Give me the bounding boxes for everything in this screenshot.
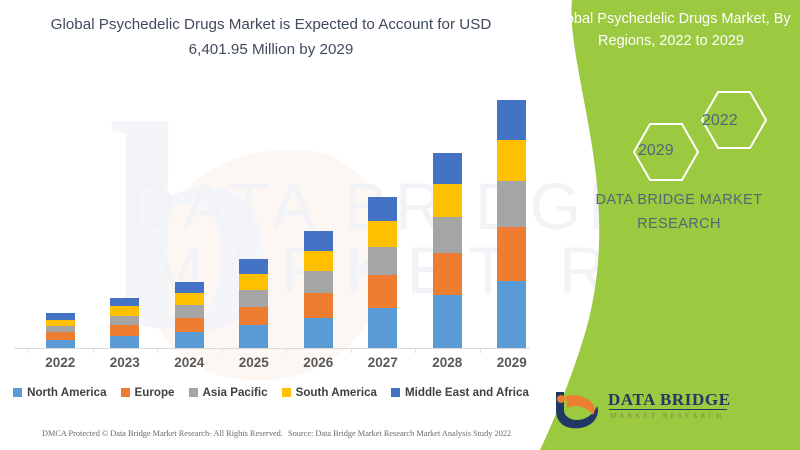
legend-label: South America [296,386,377,399]
axis-tick [415,348,416,353]
bar-segment-north-america [433,295,462,348]
bar-segment-middle-east-and-africa [433,153,462,184]
bar-segment-asia-pacific [239,290,268,307]
hexagon-badges: 2022 2029 [610,86,800,196]
bar-2025 [239,259,268,348]
bar-2027 [368,197,397,348]
footer-source: Source: Data Bridge Market Research Mark… [288,429,511,438]
green-side-panel: Global Psychedelic Drugs Market, By Regi… [528,0,800,450]
x-axis-line [14,348,530,349]
x-axis-label-2025: 2025 [224,355,284,370]
legend-label: Asia Pacific [203,386,268,399]
bar-segment-asia-pacific [497,181,526,226]
logo-tagline: MARKET RESEARCH [610,412,724,420]
bar-segment-europe [175,318,204,332]
infographic-page: b DATA BRIDGE MARKET RESEARCH Global Psy… [0,0,800,450]
bar-2028 [433,153,462,348]
axis-tick [351,348,352,353]
bar-segment-europe [433,253,462,295]
brand-logo: DATA BRIDGE MARKET RESEARCH [550,388,750,438]
bar-segment-europe [368,275,397,307]
bar-segment-north-america [46,340,75,348]
axis-tick [93,348,94,353]
legend-item-asia-pacific[interactable]: Asia Pacific [189,386,268,399]
bar-segment-asia-pacific [304,271,333,293]
bar-2029 [497,100,526,348]
page-title: Global Psychedelic Drugs Market is Expec… [36,12,506,62]
bar-segment-north-america [110,336,139,348]
bar-2026 [304,231,333,348]
chart-legend: North AmericaEuropeAsia PacificSouth Ame… [12,381,530,403]
bar-segment-asia-pacific [368,247,397,275]
bar-segment-europe [239,307,268,326]
axis-tick [480,348,481,353]
legend-label: Middle East and Africa [405,386,529,399]
x-axis-label-2022: 2022 [30,355,90,370]
x-axis-label-2026: 2026 [288,355,348,370]
bar-segment-europe [110,325,139,336]
axis-tick [222,348,223,353]
footer-copyright: DMCA Protected © Data Bridge Market Rese… [42,429,283,438]
bar-segment-middle-east-and-africa [239,259,268,274]
bar-segment-asia-pacific [110,316,139,326]
bar-segment-south-america [239,274,268,290]
bar-segment-north-america [368,308,397,348]
bar-segment-europe [46,332,75,339]
axis-tick [286,348,287,353]
hexagon-2022-label: 2022 [702,112,738,130]
bar-segment-south-america [110,306,139,315]
bar-segment-south-america [433,184,462,217]
bar-segment-middle-east-and-africa [175,282,204,293]
bar-2024 [175,282,204,348]
legend-item-middle-east-and-africa[interactable]: Middle East and Africa [391,386,529,399]
legend-swatch-icon [189,388,198,397]
bar-segment-south-america [175,293,204,305]
x-axis-label-2027: 2027 [353,355,413,370]
hexagon-2029-label: 2029 [638,142,674,160]
bar-segment-middle-east-and-africa [304,231,333,250]
bar-segment-north-america [239,325,268,348]
logo-divider [609,409,727,410]
bar-segment-middle-east-and-africa [110,298,139,306]
panel-brand-name: DATA BRIDGE MARKET RESEARCH [564,188,794,236]
x-axis-label-2028: 2028 [417,355,477,370]
bar-2023 [110,298,139,348]
bar-segment-asia-pacific [433,217,462,253]
panel-title: Global Psychedelic Drugs Market, By Regi… [546,8,796,52]
legend-label: North America [27,386,106,399]
legend-swatch-icon [13,388,22,397]
legend-item-north-america[interactable]: North America [13,386,106,399]
legend-item-south-america[interactable]: South America [282,386,377,399]
bar-segment-asia-pacific [175,305,204,318]
chart-plot-area [14,90,530,349]
bar-segment-south-america [304,251,333,271]
bar-segment-north-america [175,332,204,348]
bar-segment-europe [304,293,333,318]
bar-segment-south-america [497,140,526,181]
bar-segment-south-america [368,221,397,247]
legend-swatch-icon [282,388,291,397]
x-axis-label-2024: 2024 [159,355,219,370]
bar-segment-middle-east-and-africa [497,100,526,140]
logo-name: DATA BRIDGE [608,390,731,410]
legend-swatch-icon [121,388,130,397]
legend-label: Europe [135,386,175,399]
legend-swatch-icon [391,388,400,397]
bar-2022 [46,313,75,348]
x-axis-label-2023: 2023 [95,355,155,370]
bar-segment-middle-east-and-africa [368,197,397,221]
logo-mark-icon [550,388,606,430]
x-axis-labels: 20222023202420252026202720282029 [14,355,530,375]
bar-segment-north-america [304,318,333,348]
axis-tick [28,348,29,353]
axis-tick [157,348,158,353]
bar-segment-north-america [497,281,526,348]
bar-segment-europe [497,227,526,281]
legend-item-europe[interactable]: Europe [121,386,175,399]
